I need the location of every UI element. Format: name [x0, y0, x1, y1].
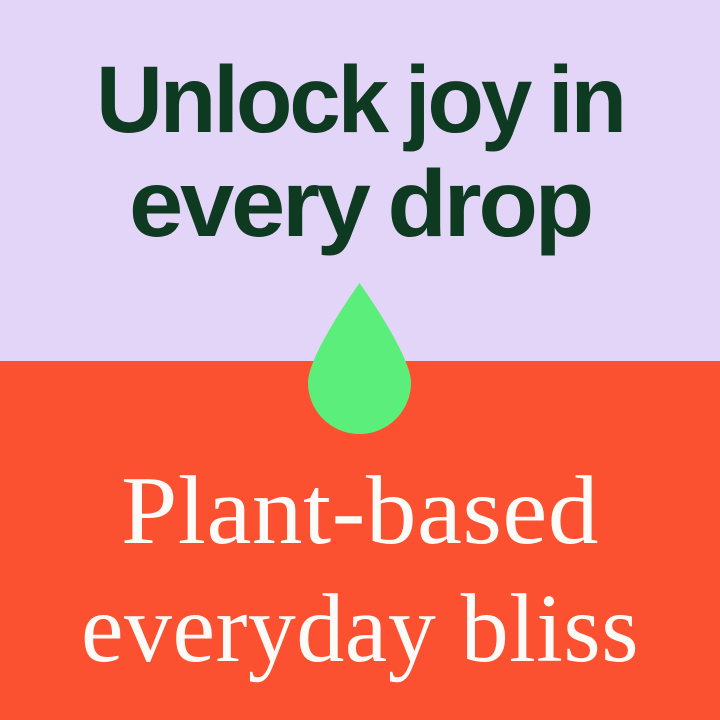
subheadline-line-2: everyday bliss [8, 570, 712, 688]
headline-line-1: Unlock joy in [9, 48, 711, 152]
subheadline: Plant-based everyday bliss [0, 452, 720, 688]
promo-poster: Unlock joy in every drop Plant-based eve… [0, 0, 720, 720]
headline-line-2: every drop [0, 152, 720, 256]
water-drop-icon [308, 283, 411, 434]
headline: Unlock joy in every drop [0, 48, 720, 256]
subheadline-line-1: Plant-based [0, 452, 720, 570]
